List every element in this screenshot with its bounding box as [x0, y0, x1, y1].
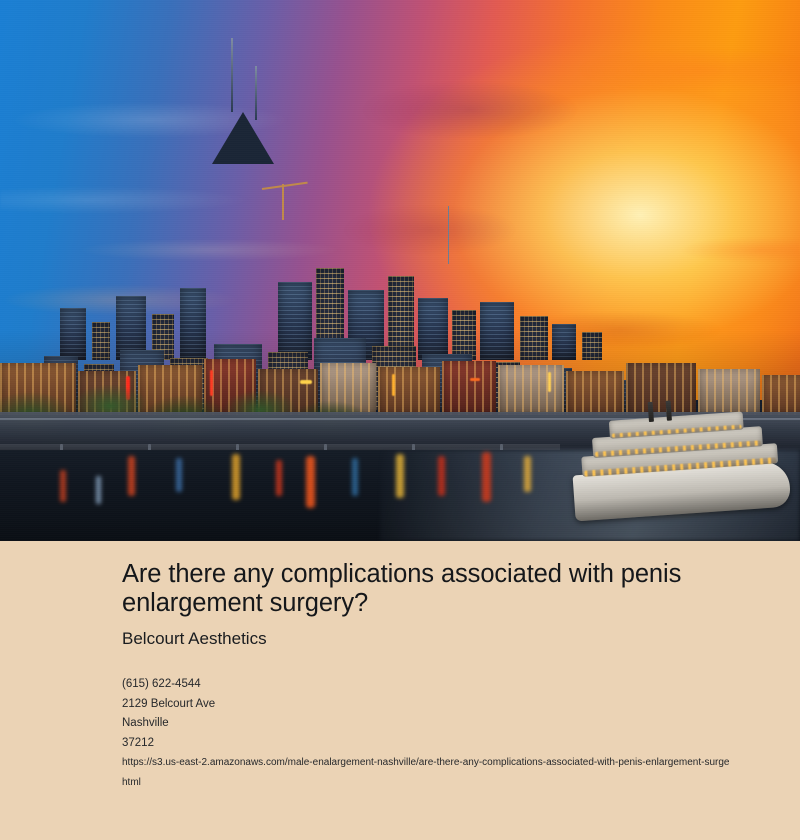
info-panel: Are there any complications associated w…: [0, 541, 800, 840]
page-url-line-1[interactable]: https://s3.us-east-2.amazonaws.com/male-…: [122, 753, 800, 773]
light-reflection: [276, 460, 282, 496]
neon-sign: [470, 378, 480, 381]
att-tower-roof: [212, 112, 274, 164]
light-reflection: [232, 454, 240, 500]
light-reflection: [96, 476, 101, 504]
light-reflection: [396, 454, 404, 498]
page-title: Are there any complications associated w…: [122, 560, 722, 618]
att-tower-spire-right: [255, 66, 257, 120]
nashville-skyline-illustration: [0, 0, 800, 541]
riverboat: [562, 400, 797, 528]
neon-sign: [548, 372, 551, 392]
light-reflection: [60, 470, 66, 502]
page-root: Are there any complications associated w…: [0, 0, 800, 840]
crane-mast: [282, 184, 284, 220]
light-reflection: [352, 458, 358, 496]
light-reflection: [176, 458, 182, 492]
light-reflection: [482, 452, 491, 502]
att-tower-spire-left: [231, 38, 233, 112]
contact-postal-code: 37212: [122, 734, 800, 754]
contact-city: Nashville: [122, 714, 800, 734]
light-reflection: [306, 456, 315, 508]
contact-block: (615) 622-4544 2129 Belcourt Ave Nashvil…: [122, 675, 800, 793]
light-reflection: [438, 456, 445, 496]
light-reflection: [128, 456, 135, 496]
antenna-mast: [448, 206, 449, 264]
light-reflection: [524, 456, 531, 492]
page-url-line-2[interactable]: html: [122, 773, 800, 793]
business-name: Belcourt Aesthetics: [122, 628, 800, 649]
contact-street: 2129 Belcourt Ave: [122, 695, 800, 715]
contact-phone[interactable]: (615) 622-4544: [122, 675, 800, 695]
hero-image: [0, 0, 800, 541]
